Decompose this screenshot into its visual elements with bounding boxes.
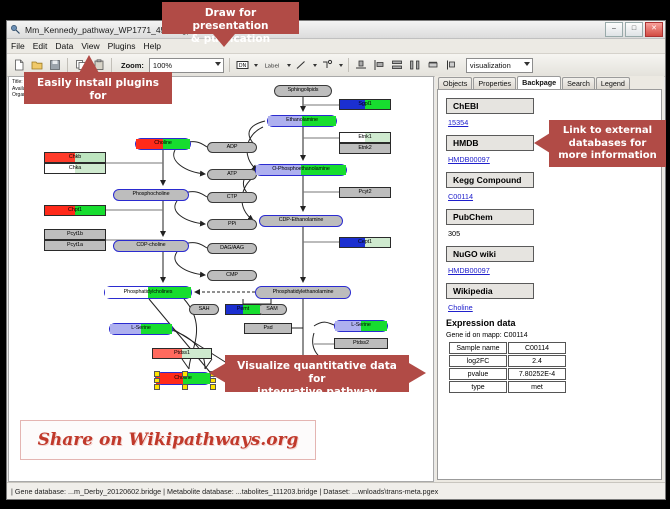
chevron-down-icon [215, 62, 221, 66]
pathway-node-lserine-right[interactable]: L-Serine [334, 320, 388, 332]
pathway-node-adp[interactable]: ADP [207, 142, 257, 153]
zoom-label: Zoom: [121, 61, 144, 70]
pathway-node-chpt1[interactable]: Chpt1 [44, 205, 106, 216]
node-label: ATP [227, 172, 237, 177]
distribute-icon[interactable] [408, 58, 423, 73]
pathway-node-ptdss2[interactable]: Ptdss2 [334, 338, 388, 349]
status-text: | Gene database: ...m_Derby_20120602.bri… [11, 487, 438, 496]
pathway-node-ethanolamine[interactable]: Ethanolamine [267, 115, 337, 127]
save-icon[interactable] [47, 58, 62, 73]
pathway-node-cept1[interactable]: Cept1 [339, 237, 391, 248]
node-label: Ethanolamine [286, 118, 318, 123]
pathway-node-pcyt1a[interactable]: Pcyt1a [44, 240, 106, 251]
tab-backpage[interactable]: Backpage [517, 76, 561, 89]
align-left-icon[interactable] [372, 58, 387, 73]
menu-item-plugins[interactable]: Plugins [108, 41, 136, 51]
node-label: Phosphocholine [133, 192, 170, 197]
callout-links-arrow [534, 133, 550, 153]
pathway-node-pcyt1b[interactable]: Pcyt1b [44, 229, 106, 240]
align-top-icon[interactable] [354, 58, 369, 73]
pathway-node-sgpl1[interactable]: Sgpl1 [339, 99, 391, 110]
table-row: pvalue7.80252E-4 [449, 368, 566, 380]
pathway-node-phosphocholine[interactable]: Phosphocholine [113, 189, 189, 201]
backpage-value-pubchem: 305 [448, 229, 661, 238]
open-folder-icon[interactable] [29, 58, 44, 73]
node-label: CDP-Ethanolamine [279, 218, 324, 223]
backpage-header-chebi: ChEBI [446, 98, 534, 114]
toolbar-separator-3 [229, 58, 230, 72]
pathway-node-etnk1[interactable]: Etnk1 [339, 132, 391, 143]
callout-visualize: Visualize quantitative data forintegrati… [225, 355, 409, 392]
node-label: L-Serine [131, 326, 151, 331]
callout-visualize-arrow-left [209, 363, 226, 383]
node-label: Etnk1 [358, 135, 371, 140]
node-label: PPi [228, 222, 236, 227]
expression-data-table: Sample nameC00114log2FC2.4pvalue7.80252E… [448, 341, 567, 394]
node-label: Choline [154, 141, 172, 146]
node-label: Ptdss1 [174, 351, 190, 356]
node-label: Chpt1 [68, 208, 82, 213]
node-label: CTP [227, 195, 237, 200]
tab-properties[interactable]: Properties [473, 77, 516, 89]
backpage-value-nugo-wiki[interactable]: HMDB00097 [448, 266, 661, 275]
backpage-header-wikipedia: Wikipedia [446, 283, 534, 299]
pathway-node-o-phospho[interactable]: O-Phosphoethanolamine [255, 164, 347, 176]
selection-handle[interactable] [182, 384, 188, 390]
pathway-node-cdp-etn[interactable]: CDP-Ethanolamine [259, 215, 343, 227]
pathway-node-psd[interactable]: Psd [244, 323, 292, 334]
node-label: Sphingolipids [288, 88, 319, 93]
window-title: Mm_Kennedy_pathway_WP1771_45176.gpml [25, 25, 662, 35]
selection-handle[interactable] [182, 371, 188, 377]
share-banner: Share on Wikipathways.org [20, 420, 316, 460]
pathway-node-sah[interactable]: SAH [189, 304, 219, 315]
pathway-node-ptdetn[interactable]: Phosphatidylethanolamine [255, 286, 351, 299]
node-label: Ptdss2 [353, 341, 369, 346]
pathway-node-cmp[interactable]: CMP [207, 270, 257, 281]
node-label: CDP-choline [136, 243, 165, 248]
svg-text:DN: DN [239, 63, 247, 69]
interaction-dropdown-icon[interactable] [339, 64, 343, 67]
table-cell: log2FC [449, 355, 507, 367]
chevron-down-icon [524, 62, 530, 66]
toolbar-separator-1 [67, 58, 68, 72]
node-label: Chka [69, 166, 81, 171]
line-dropdown-icon[interactable] [313, 64, 317, 67]
pathway-node-ptdcholine[interactable]: Phosphatidylcholines [104, 286, 192, 299]
side-panel-tabs: ObjectsPropertiesBackpageSearchLegend [435, 76, 664, 89]
table-cell: 7.80252E-4 [508, 368, 566, 380]
backpage-header-nugo-wiki: NuGO wiki [446, 246, 534, 262]
share-banner-text: Share on Wikipathways.org [38, 430, 299, 450]
minimize-button[interactable]: – [605, 22, 623, 37]
app-icon [10, 24, 21, 35]
pathway-node-ctp[interactable]: CTP [207, 192, 257, 203]
stack-icon[interactable] [390, 58, 405, 73]
maximize-button[interactable]: □ [625, 22, 643, 37]
selection-handle[interactable] [154, 371, 160, 377]
node-label: Etnk2 [358, 146, 371, 151]
selection-handle[interactable] [154, 378, 160, 384]
pathway-node-ptdss1[interactable]: Ptdss1 [152, 348, 212, 359]
toolbar-separator-2 [111, 58, 112, 72]
callout-plugins: Easily install plugins foradded features [24, 72, 172, 104]
toolbar-separator-4 [348, 58, 349, 72]
visualization-combobox[interactable]: visualization [466, 58, 533, 73]
node-label: DAG/AAG [220, 246, 244, 251]
node-label: Pcyt2 [359, 190, 372, 195]
pathway-node-atp[interactable]: ATP [207, 169, 257, 180]
table-row: log2FC2.4 [449, 355, 566, 367]
node-label: SAM [266, 307, 277, 312]
tab-search[interactable]: Search [562, 77, 595, 89]
zoom-combobox[interactable]: 100% [149, 58, 224, 73]
backpage-header-kegg-compound: Kegg Compound [446, 172, 534, 188]
menu-bar: File Edit Data View Plugins Help [7, 39, 665, 54]
table-cell: pvalue [449, 368, 507, 380]
callout-visualize-arrow-right [409, 363, 426, 383]
pathway-node-lserine-left[interactable]: L-Serine [109, 323, 173, 335]
node-label: Choline [174, 376, 192, 381]
expression-data-title: Expression data [446, 318, 661, 328]
pathway-node-cdp-choline[interactable]: CDP-choline [113, 240, 189, 252]
node-label: SAH [199, 307, 210, 312]
callout-draw: Draw for presentation& publication [162, 2, 299, 34]
backpage-header-pubchem: PubChem [446, 209, 534, 225]
menu-item-file[interactable]: File [11, 41, 25, 51]
callout-draw-arrow [213, 34, 235, 47]
table-row: Sample nameC00114 [449, 342, 566, 354]
gene-id-line: Gene id on mapp: C00114 [446, 332, 661, 339]
title-bar: Mm_Kennedy_pathway_WP1771_45176.gpml – □… [7, 21, 665, 39]
node-label: L-Serine [351, 323, 371, 328]
menu-item-edit[interactable]: Edit [33, 41, 48, 51]
pathway-node-choline-top[interactable]: Choline [135, 138, 191, 150]
callout-links: Link to externaldatabases formore inform… [549, 120, 666, 167]
node-label: CMP [226, 273, 238, 278]
pathway-node-ppi[interactable]: PPi [207, 219, 257, 230]
selection-handle[interactable] [154, 384, 160, 390]
selection-handle[interactable] [210, 384, 216, 390]
tab-legend[interactable]: Legend [596, 77, 630, 89]
pathway-node-pcyt2[interactable]: Pcyt2 [339, 187, 391, 198]
node-label: Chkb [69, 155, 81, 160]
pathway-node-chka[interactable]: Chka [44, 163, 106, 174]
screenshot-root: Mm_Kennedy_pathway_WP1771_45176.gpml – □… [0, 0, 670, 509]
pathway-node-choline-bottom[interactable]: Choline [155, 372, 211, 385]
close-button[interactable]: ✕ [645, 22, 663, 37]
node-label: Pemt [237, 307, 249, 312]
pathway-node-chkb[interactable]: Chkb [44, 152, 106, 163]
pathway-node-sphingolipids[interactable]: Sphingolipids [274, 85, 332, 97]
datanode-dropdown-icon[interactable] [254, 64, 258, 67]
interaction-icon[interactable] [320, 58, 335, 73]
table-cell: 2.4 [508, 355, 566, 367]
window-controls: – □ ✕ [605, 22, 663, 37]
table-cell: C00114 [508, 342, 566, 354]
visualization-value: visualization [470, 61, 511, 70]
pathway-node-pemt[interactable]: Pemt [225, 304, 261, 315]
node-label: Phosphatidylcholines [124, 290, 173, 295]
node-label: Psd [264, 326, 273, 331]
node-label: Pcyt1b [67, 232, 83, 237]
status-bar: | Gene database: ...m_Derby_20120602.bri… [7, 482, 665, 499]
order-icon[interactable] [444, 58, 459, 73]
node-label: Phosphatidylethanolamine [273, 290, 334, 295]
menu-item-data[interactable]: Data [55, 41, 73, 51]
pathway-node-dagaag[interactable]: DAG/AAG [207, 243, 257, 254]
label-icon[interactable]: Label [261, 58, 283, 73]
tab-objects[interactable]: Objects [438, 77, 472, 89]
backpage-value-wikipedia[interactable]: Choline [448, 303, 661, 312]
callout-plugins-arrow [79, 55, 99, 73]
table-cell: type [449, 381, 507, 393]
menu-item-view[interactable]: View [81, 41, 99, 51]
table-row: typemet [449, 381, 566, 393]
node-label: O-Phosphoethanolamine [272, 167, 330, 172]
group-icon[interactable] [426, 58, 441, 73]
node-label: Sgpl1 [358, 102, 371, 107]
pathway-node-sam[interactable]: SAM [257, 304, 287, 315]
backpage-value-kegg-compound[interactable]: C00114 [448, 192, 661, 201]
table-cell: met [508, 381, 566, 393]
node-label: ADP [227, 145, 238, 150]
zoom-value: 100% [153, 61, 172, 70]
menu-item-help[interactable]: Help [144, 41, 161, 51]
line-icon[interactable] [294, 58, 309, 73]
node-label: Cept1 [358, 240, 372, 245]
datanode-icon[interactable]: DN [235, 58, 250, 73]
table-cell: Sample name [449, 342, 507, 354]
node-label: Pcyt1a [67, 243, 83, 248]
label-dropdown-icon[interactable] [287, 64, 291, 67]
new-file-icon[interactable] [11, 58, 26, 73]
backpage-header-hmdb: HMDB [446, 135, 534, 151]
svg-text:Label: Label [265, 64, 280, 70]
pathway-node-etnk2[interactable]: Etnk2 [339, 143, 391, 154]
